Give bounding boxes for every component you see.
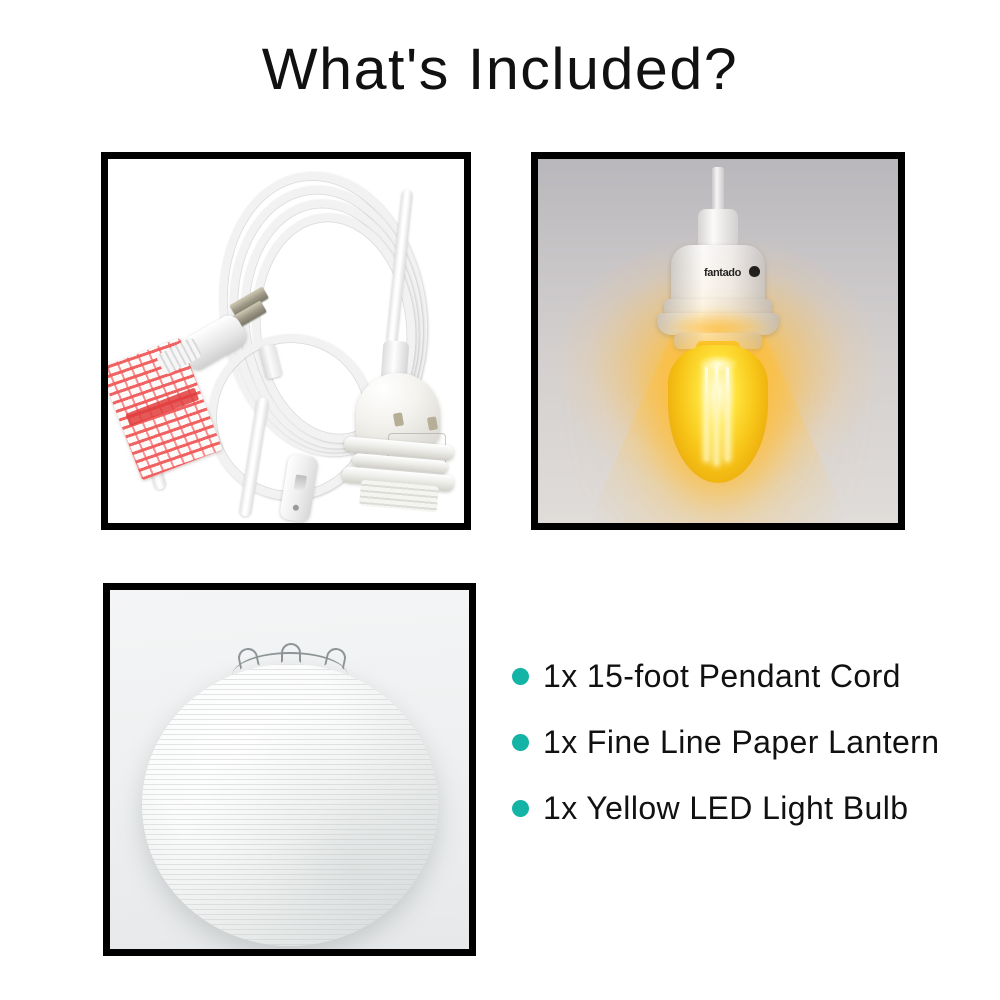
bulb-filament — [726, 367, 729, 461]
filament-crown — [698, 355, 738, 373]
socket-dome — [356, 373, 440, 445]
lantern-shading — [142, 664, 438, 946]
socket-threads — [359, 480, 439, 513]
pendant-cord-photo-frame — [101, 152, 471, 530]
bulb-filament — [705, 367, 708, 461]
lantern-hook-icon — [281, 643, 301, 663]
hanging-wire — [712, 167, 724, 215]
lamp-socket — [334, 341, 462, 513]
bullet-dot-icon — [512, 734, 529, 751]
switch-rocker — [294, 474, 307, 491]
page-title: What's Included? — [0, 36, 1000, 103]
paper-lantern-photo-frame — [103, 583, 476, 956]
list-item-label: 1x Fine Line Paper Lantern — [543, 724, 939, 761]
included-items-list: 1x 15-foot Pendant Cord 1x Fine Line Pap… — [512, 643, 982, 841]
lantern-hook-icon — [324, 646, 348, 670]
switch-indicator — [292, 504, 299, 511]
lit-bulb-photo-frame: fantado — [531, 152, 905, 530]
paper-lantern-body — [142, 664, 438, 946]
list-item: 1x Yellow LED Light Bulb — [512, 775, 982, 841]
socket-slot — [427, 416, 438, 430]
list-item: 1x Fine Line Paper Lantern — [512, 709, 982, 775]
socket-slot — [393, 412, 404, 426]
warning-tag-band — [125, 388, 199, 427]
fantado-lantern-logo-icon — [749, 266, 760, 277]
socket-glow-lip — [660, 309, 776, 333]
bulb-filament — [715, 365, 718, 465]
paper-lantern-photo — [110, 590, 469, 949]
list-item-label: 1x 15-foot Pendant Cord — [543, 658, 901, 695]
lantern-hook-icon — [236, 646, 260, 670]
fantado-brand-label: fantado — [704, 267, 741, 279]
pendant-cord-photo — [108, 159, 464, 523]
lit-bulb-photo: fantado — [538, 159, 898, 523]
list-item: 1x 15-foot Pendant Cord — [512, 643, 982, 709]
bullet-dot-icon — [512, 668, 529, 685]
list-item-label: 1x Yellow LED Light Bulb — [543, 790, 908, 827]
bullet-dot-icon — [512, 800, 529, 817]
